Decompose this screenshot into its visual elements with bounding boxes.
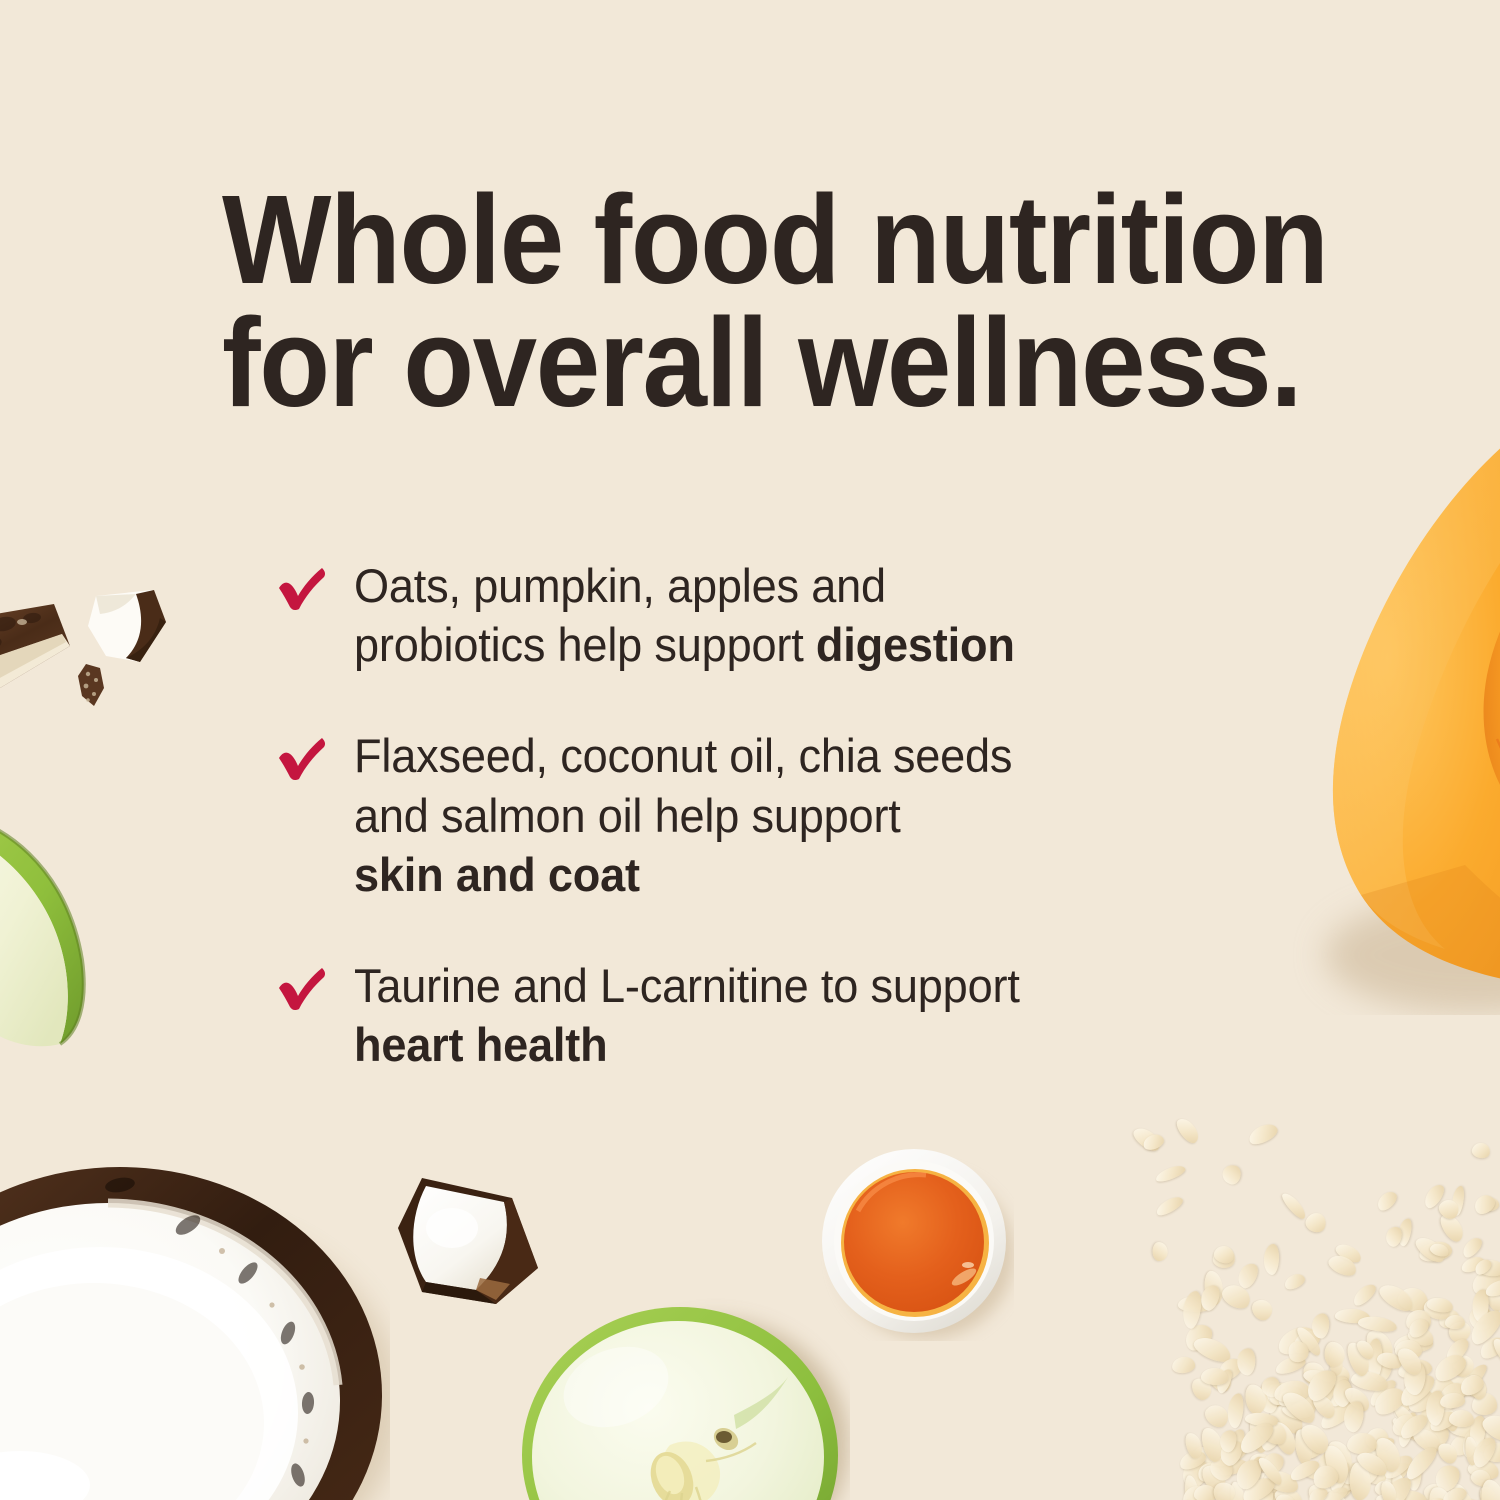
oat-flake	[1283, 1271, 1308, 1291]
oat-flake	[1154, 1194, 1185, 1218]
oat-flake	[1153, 1242, 1168, 1261]
oat-flake	[1249, 1295, 1276, 1323]
bullet-1-line-1: Oats, pumpkin, apples and	[354, 559, 886, 612]
oat-flake	[1226, 1392, 1245, 1429]
rolled-oats-image	[1130, 1120, 1500, 1500]
bullet-3-emphasis: heart health	[354, 1018, 607, 1071]
apple-slice-image	[0, 800, 180, 1050]
oat-flake	[1174, 1115, 1203, 1146]
list-item-text: Flaxseed, coconut oil, chia seeds and sa…	[354, 726, 1230, 904]
oat-flake	[1279, 1190, 1308, 1221]
oat-flake	[1470, 1141, 1491, 1160]
oat-flake	[1303, 1210, 1329, 1235]
coconut-half-image	[0, 1155, 390, 1500]
bullet-1-line-2: probiotics help support	[354, 618, 816, 671]
oat-flake	[1172, 1356, 1196, 1374]
coconut-chunk-image	[82, 588, 168, 668]
oat-flake	[1374, 1189, 1399, 1214]
list-item: Taurine and L-carnitine to support heart…	[276, 956, 1266, 1074]
page-title: Whole food nutrition for overall wellnes…	[222, 178, 1234, 425]
coconut-wedge-image	[392, 1172, 544, 1310]
list-item-text: Taurine and L-carnitine to support heart…	[354, 956, 1230, 1074]
apple-half-image	[520, 1295, 850, 1500]
checkmark-icon	[276, 566, 328, 612]
checkmark-icon	[276, 736, 328, 782]
oat-flake	[1246, 1120, 1280, 1147]
salmon-oil-bowl-image	[818, 1145, 1014, 1341]
bullet-3-line-1: Taurine and L-carnitine to support	[354, 959, 1020, 1012]
coconut-fragment-image	[74, 662, 108, 710]
bullet-2-emphasis: skin and coat	[354, 848, 640, 901]
headline-line-2: for overall wellness.	[222, 301, 1234, 424]
list-item: Oats, pumpkin, apples and probiotics hel…	[276, 556, 1266, 674]
benefits-list: Oats, pumpkin, apples and probiotics hel…	[276, 556, 1266, 1075]
list-item: Flaxseed, coconut oil, chia seeds and sa…	[276, 726, 1266, 904]
oat-flake	[1357, 1314, 1397, 1333]
oat-flake	[1154, 1162, 1187, 1184]
oat-flake	[1350, 1280, 1379, 1308]
bullet-2-line-2: and salmon oil help support	[354, 789, 901, 842]
pumpkin-half-image	[1265, 395, 1500, 1015]
oat-flake	[1263, 1243, 1280, 1275]
oat-flake	[1471, 1192, 1497, 1217]
oat-flake	[1445, 1315, 1465, 1329]
coconut-chunk-image	[0, 600, 75, 695]
oat-flake	[1220, 1163, 1241, 1185]
bullet-1-emphasis: digestion	[816, 618, 1015, 671]
oat-flake	[1236, 1348, 1255, 1375]
list-item-text: Oats, pumpkin, apples and probiotics hel…	[354, 556, 1230, 674]
bullet-2-line-1: Flaxseed, coconut oil, chia seeds	[354, 729, 1012, 782]
headline-line-1: Whole food nutrition	[222, 178, 1234, 301]
promo-image: Whole food nutrition for overall wellnes…	[0, 0, 1500, 1500]
checkmark-icon	[276, 966, 328, 1012]
